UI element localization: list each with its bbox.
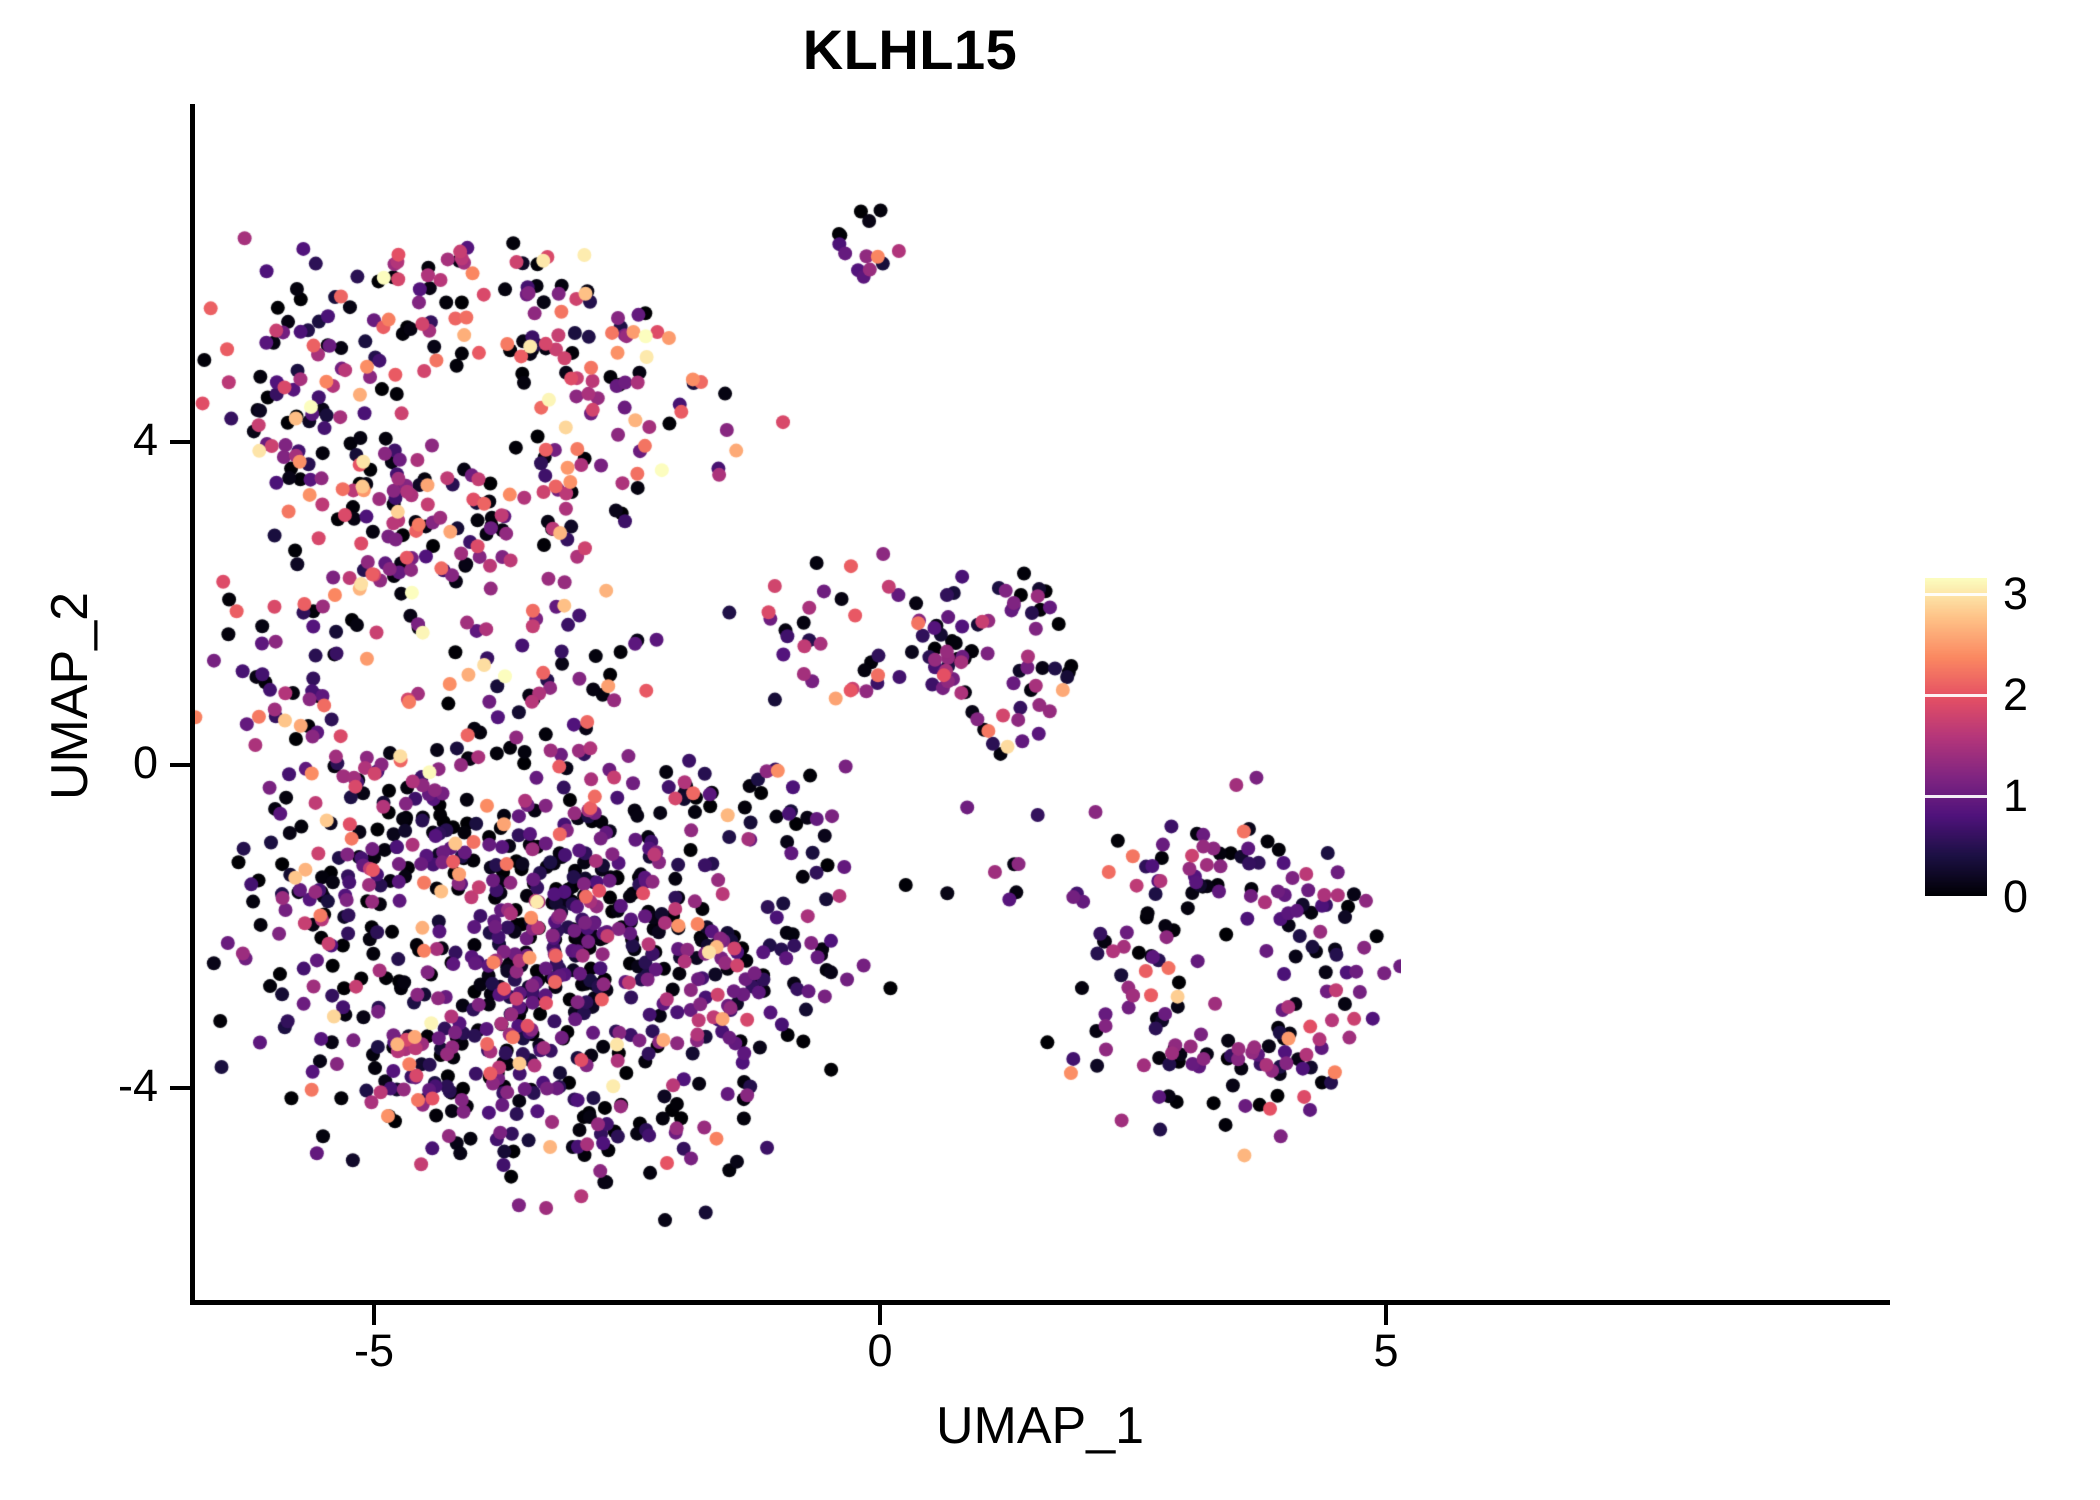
- y-axis-title: UMAP_2: [44, 346, 96, 1046]
- y-tick-mark-1: [170, 763, 190, 767]
- umap-points-layer: [193, 104, 1401, 1304]
- x-axis-line: [190, 1300, 1890, 1305]
- feature-plot-figure: KLHL15 -5 0 5 4 0 -4 UMAP_1 UMAP_2 3 2 1…: [0, 0, 2100, 1500]
- y-tick-mark-0: [170, 440, 190, 444]
- x-tick-mark-0: [372, 1305, 376, 1325]
- x-tick-label-0: -5: [314, 1328, 434, 1373]
- colorbar-tick-1: [1925, 795, 1987, 798]
- colorbar-label-2: 2: [2003, 672, 2073, 717]
- x-tick-label-2: 5: [1326, 1328, 1446, 1373]
- x-tick-mark-1: [878, 1305, 882, 1325]
- colorbar-label-3: 3: [2003, 571, 2073, 616]
- colorbar-tick-0: [1925, 894, 1987, 897]
- page-title: KLHL15: [0, 22, 1820, 78]
- colorbar-gradient: [1925, 578, 1987, 896]
- y-tick-mark-2: [170, 1086, 190, 1090]
- y-axis-line: [190, 104, 195, 1304]
- x-tick-mark-2: [1384, 1305, 1388, 1325]
- x-axis-title: UMAP_1: [190, 1400, 1890, 1452]
- colorbar-label-1: 1: [2003, 773, 2073, 818]
- colorbar-tick-2: [1925, 694, 1987, 697]
- colorbar-legend[interactable]: 3 2 1 0: [1925, 578, 2075, 908]
- colorbar-label-0: 0: [2003, 874, 2073, 919]
- colorbar-tick-3: [1925, 593, 1987, 596]
- x-tick-label-1: 0: [820, 1328, 940, 1373]
- y-tick-label-2: -4: [40, 1063, 158, 1108]
- scatter-plot-panel[interactable]: [193, 104, 1401, 1304]
